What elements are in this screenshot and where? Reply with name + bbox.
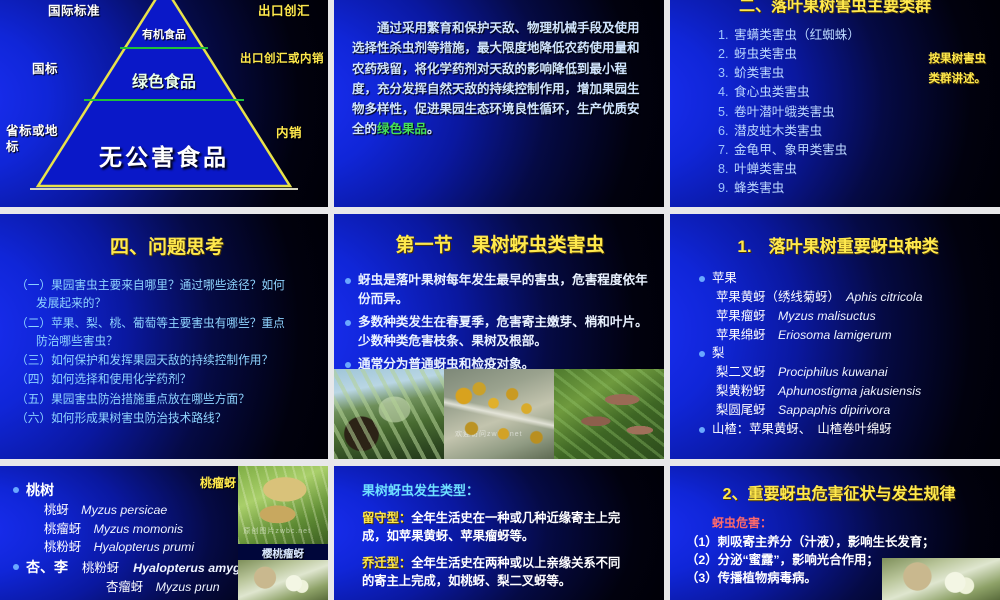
photo-watermark: 原创图片zwbc.net — [243, 526, 311, 536]
slide-thumbnail-6[interactable]: 1. 落叶果树重要蚜虫种类 苹果 苹果黄蚜（绣线菊蚜） Aphis citric… — [670, 214, 1000, 459]
host-group-hawthorn: 山楂：苹果黄蚜、 山楂卷叶绵蚜 — [698, 420, 992, 439]
occurrence-heading: 果树蚜虫发生类型： — [362, 480, 654, 499]
host-group-apple: 苹果 — [698, 269, 992, 288]
list-item: 多数种类发生在春夏季，危害寄主嫩芽、梢和叶片。少数种类危害枝条、果树及根部。 — [344, 313, 656, 351]
slide3-title: 二、落叶果树害虫主要类群 — [670, 0, 1000, 16]
pyramid-diagram: 有机食品 绿色食品 无公害食品 国际标准 国标 省标或地标 出口创汇 出口创汇或… — [0, 0, 328, 207]
list-item: 5.卷叶潜叶蛾类害虫 — [718, 103, 1000, 122]
curled-shoot-photo — [334, 369, 444, 459]
list-item: 9.蜂类害虫 — [718, 179, 1000, 198]
slide9-title: 2、重要蚜虫危害征状与发生规律 — [686, 480, 992, 504]
slide-thumbnail-5[interactable]: 第一节 果树蚜虫类害虫 蚜虫是落叶果树每年发生最早的害虫，危害程度依年份而异。 … — [334, 214, 664, 459]
list-item: （二）苹果、梨、桃、葡萄等主要害虫有哪些？重点防治哪些害虫？ — [16, 315, 318, 352]
list-item: （五）果园害虫防治措施重点放在哪些方面？ — [16, 391, 318, 409]
slide-thumbnail-grid: 有机食品 绿色食品 无公害食品 国际标准 国标 省标或地标 出口创汇 出口创汇或… — [0, 0, 1000, 600]
list-item: 桃蚜 Myzus persicae — [44, 501, 262, 520]
list-item: 留守型：全年生活史在一种或几种近缘寄主上完成，如苹果黄蚜、苹果瘤蚜等。 — [362, 509, 654, 546]
list-item: （六）如何形成果树害虫防治技术路线？ — [16, 410, 318, 428]
list-item: （三）如何保护和发挥果园天敌的持续控制作用？ — [16, 352, 318, 370]
list-item: 梨黄粉蚜 Aphunostigma jakusiensis — [716, 382, 992, 401]
pyramid-label-export: 出口创汇 — [258, 0, 310, 19]
aphid-intro-bullets: 蚜虫是落叶果树每年发生最早的害虫，危害程度依年份而异。 多数种类发生在春夏季，危… — [344, 271, 656, 373]
list-item: 1.害螨类害虫（红蜘蛛） — [718, 26, 1000, 45]
list-item: 梨二叉蚜 Prociphilus kuwanai — [716, 363, 992, 382]
pyramid-label-export-or-domestic: 出口创汇或内销 — [240, 50, 324, 66]
pyramid-label-provincial-standard: 省标或地标 — [6, 124, 68, 155]
peach-gall-aphid-photo: 原创图片zwbc.net — [238, 466, 328, 544]
list-item: 乔迁型：全年生活史在两种或以上亲缘关系不同的寄主上完成，如桃蚜、梨二叉蚜等。 — [362, 554, 654, 591]
peach-aphid-list: 桃树 桃蚜 Myzus persicae 桃瘤蚜 Myzus momonis 桃… — [12, 480, 262, 600]
photo-watermark: 欢迎访问zwbc.net — [455, 429, 523, 439]
aphid-damage-photo — [882, 558, 1000, 600]
slide-thumbnail-1[interactable]: 有机食品 绿色食品 无公害食品 国际标准 国标 省标或地标 出口创汇 出口创汇或… — [0, 0, 328, 207]
slide-thumbnail-9[interactable]: 2、重要蚜虫危害征状与发生规律 蚜虫危害： （1）刺吸寄主养分（汁液），影响生长… — [670, 466, 1000, 600]
pyramid-label-domestic: 内销 — [276, 122, 302, 141]
list-item: 蚜虫是落叶果树每年发生最早的害虫，危害程度依年份而异。 — [344, 271, 656, 309]
host-group-pear: 梨 — [698, 344, 992, 363]
slide6-title: 1. 落叶果树重要蚜虫种类 — [684, 232, 992, 257]
list-item: （一）果园害虫主要来自哪里？通过哪些途径？如何发展起来的？ — [16, 277, 318, 314]
list-item: 桃瘤蚜 Myzus momonis — [44, 520, 262, 539]
natural-enemy-paragraph: 通过采用繁育和保护天敌、物理机械手段及使用选择性杀虫剂等措施，最大限度地降低农药… — [352, 18, 648, 140]
list-item: （四）如何选择和使用化学药剂？ — [16, 371, 318, 389]
photo-caption-peach-gall-aphid: 桃瘤蚜 — [200, 474, 236, 491]
pyramid-label-international-standard: 国际标准 — [48, 0, 100, 19]
list-item: 梨圆尾蚜 Sappaphis dipirivora — [716, 401, 992, 420]
occurrence-type-list: 留守型：全年生活史在一种或几种近缘寄主上完成，如苹果黄蚜、苹果瘤蚜等。 乔迁型：… — [362, 509, 654, 591]
aphid-colony-photo: 欢迎访问zwbc.net — [444, 369, 554, 459]
slide4-title: 四、问题思考 — [16, 232, 318, 259]
green-fruit-highlight: 绿色果品 — [377, 122, 427, 136]
row-gap — [0, 459, 1000, 466]
slide-thumbnail-4[interactable]: 四、问题思考 （一）果园害虫主要来自哪里？通过哪些途径？如何发展起来的？ （二）… — [0, 214, 328, 459]
slide-thumbnail-7[interactable]: 桃树 桃蚜 Myzus persicae 桃瘤蚜 Myzus momonis 桃… — [0, 466, 328, 600]
photo-caption-cherry-gall-aphid: 樱桃瘤蚜 — [262, 548, 304, 560]
list-item: 桃粉蚜 Hyalopterus prumi — [44, 538, 262, 557]
damage-subheading: 蚜虫危害： — [712, 514, 992, 531]
aphid-species-list: 苹果 苹果黄蚜（绣线菊蚜） Aphis citricola 苹果瘤蚜 Myzus… — [684, 269, 992, 439]
overflow-text: ctus — [26, 596, 262, 600]
cherry-gall-aphid-photo — [238, 560, 328, 600]
list-item: 8.叶蝉类害虫 — [718, 160, 1000, 179]
photo-strip: 欢迎访问zwbc.net — [334, 369, 664, 459]
discussion-question-list: （一）果园害虫主要来自哪里？通过哪些途径？如何发展起来的？ （二）苹果、梨、桃、… — [16, 277, 318, 428]
list-item: 7.金龟甲、象甲类害虫 — [718, 141, 1000, 160]
list-item: （1）刺吸寄主养分（汁液），影响生长发育； — [686, 534, 992, 552]
slide-thumbnail-3[interactable]: 二、落叶果树害虫主要类群 1.害螨类害虫（红蜘蛛） 2.蚜虫类害虫 3.蚧类害虫… — [670, 0, 1000, 207]
list-item: 苹果黄蚜（绣线菊蚜） Aphis citricola — [716, 288, 992, 307]
slide5-title: 第一节 果树蚜虫类害虫 — [344, 230, 656, 257]
side-note: 按果树害虫 类群讲述。 — [929, 50, 987, 89]
slide-thumbnail-2[interactable]: 通过采用繁育和保护天敌、物理机械手段及使用选择性杀虫剂等措施，最大限度地降低农药… — [334, 0, 664, 207]
pyramid-label-national-standard: 国标 — [32, 58, 58, 77]
slide-thumbnail-8[interactable]: 果树蚜虫发生类型： 留守型：全年生活史在一种或几种近缘寄主上完成，如苹果黄蚜、苹… — [334, 466, 664, 600]
photo-caption-bar: 樱桃瘤蚜 — [238, 544, 328, 560]
photo-column: 原创图片zwbc.net 樱桃瘤蚜 — [238, 466, 328, 600]
pyramid-tier-organic: 有机食品 — [0, 26, 328, 42]
list-item: 6.潜皮蛀木类害虫 — [718, 122, 1000, 141]
host-group-apricot-plum: 杏、李 桃粉蚜 Hyalopterus amygdale — [12, 557, 262, 578]
list-item: 苹果绵蚜 Eriosoma lamigerum — [716, 326, 992, 345]
list-item: 苹果瘤蚜 Myzus malisuctus — [716, 307, 992, 326]
row-gap — [0, 207, 1000, 214]
leaf-curl-photo — [554, 369, 664, 459]
